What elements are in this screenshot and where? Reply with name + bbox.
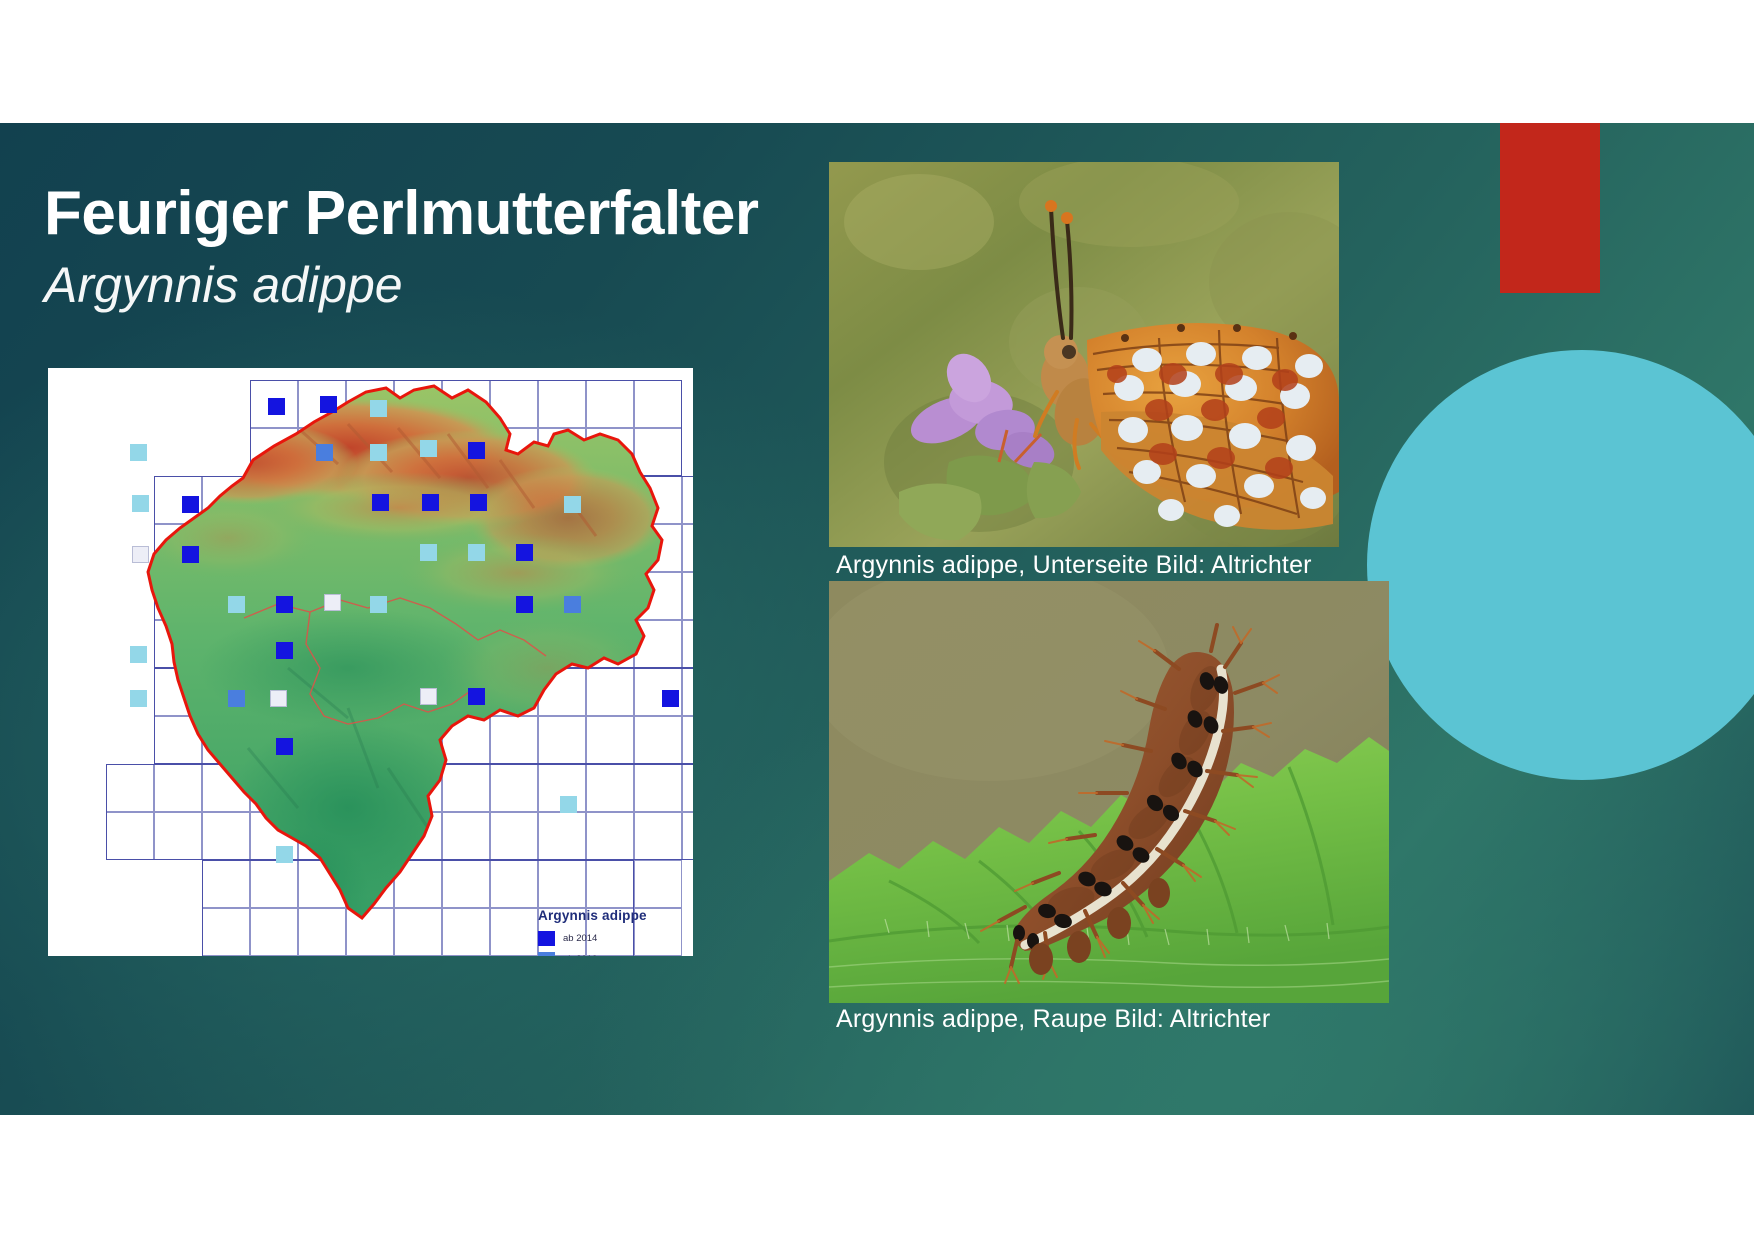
legend-label: ab 2010: [563, 954, 597, 956]
map-legend: Argynnis adippe ab 2014ab 2010ab 1988bis…: [538, 908, 647, 956]
legend-swatch: [538, 952, 555, 956]
legend-label: ab 2014: [563, 933, 597, 944]
decorative-red-rectangle: [1500, 123, 1600, 293]
map-distribution-marker: [182, 496, 199, 513]
map-distribution-marker: [516, 544, 533, 561]
map-distribution-marker: [228, 596, 245, 613]
map-distribution-marker: [130, 646, 147, 663]
map-distribution-marker: [560, 796, 577, 813]
map-distribution-marker: [470, 494, 487, 511]
map-distribution-marker: [324, 594, 341, 611]
map-distribution-marker: [372, 494, 389, 511]
map-distribution-marker: [370, 400, 387, 417]
map-distribution-marker: [276, 642, 293, 659]
map-distribution-marker: [182, 546, 199, 563]
map-distribution-marker: [468, 442, 485, 459]
decorative-teal-circle: [1367, 350, 1754, 780]
map-distribution-marker: [420, 440, 437, 457]
map-distribution-marker: [370, 596, 387, 613]
map-distribution-marker: [276, 596, 293, 613]
map-distribution-marker: [564, 596, 581, 613]
map-distribution-marker: [422, 494, 439, 511]
map-distribution-marker: [228, 690, 245, 707]
photo-butterfly-underside: [829, 162, 1339, 547]
map-distribution-marker: [268, 398, 285, 415]
distribution-map-panel: Argynnis adippe ab 2014ab 2010ab 1988bis…: [48, 368, 693, 956]
map-distribution-marker: [316, 444, 333, 461]
legend-title: Argynnis adippe: [538, 908, 647, 923]
legend-swatch: [538, 931, 555, 946]
map-distribution-marker: [276, 738, 293, 755]
slide-subtitle: Argynnis adippe: [44, 256, 403, 314]
map-distribution-marker: [132, 495, 149, 512]
map-distribution-marker: [276, 846, 293, 863]
map-distribution-marker: [420, 688, 437, 705]
map-distribution-marker: [130, 690, 147, 707]
map-distribution-marker: [564, 496, 581, 513]
map-distribution-marker: [320, 396, 337, 413]
photo-caterpillar: [829, 581, 1389, 1003]
map-distribution-marker: [270, 690, 287, 707]
map-inner: Argynnis adippe ab 2014ab 2010ab 1988bis…: [48, 368, 693, 956]
legend-row: ab 2010: [538, 951, 647, 956]
map-distribution-marker: [370, 444, 387, 461]
legend-row: ab 2014: [538, 930, 647, 947]
map-distribution-marker: [662, 690, 679, 707]
map-distribution-marker: [420, 544, 437, 561]
map-distribution-marker: [516, 596, 533, 613]
caption-caterpillar: Argynnis adippe, Raupe Bild: Altrichter: [836, 1005, 1270, 1034]
map-distribution-marker: [468, 544, 485, 561]
map-distribution-marker: [132, 546, 149, 563]
slide-title: Feuriger Perlmutterfalter: [44, 178, 759, 249]
slide-canvas: Feuriger Perlmutterfalter Argynnis adipp…: [0, 123, 1754, 1115]
map-distribution-marker: [130, 444, 147, 461]
caption-butterfly: Argynnis adippe, Unterseite Bild: Altric…: [836, 551, 1312, 580]
map-distribution-marker: [468, 688, 485, 705]
